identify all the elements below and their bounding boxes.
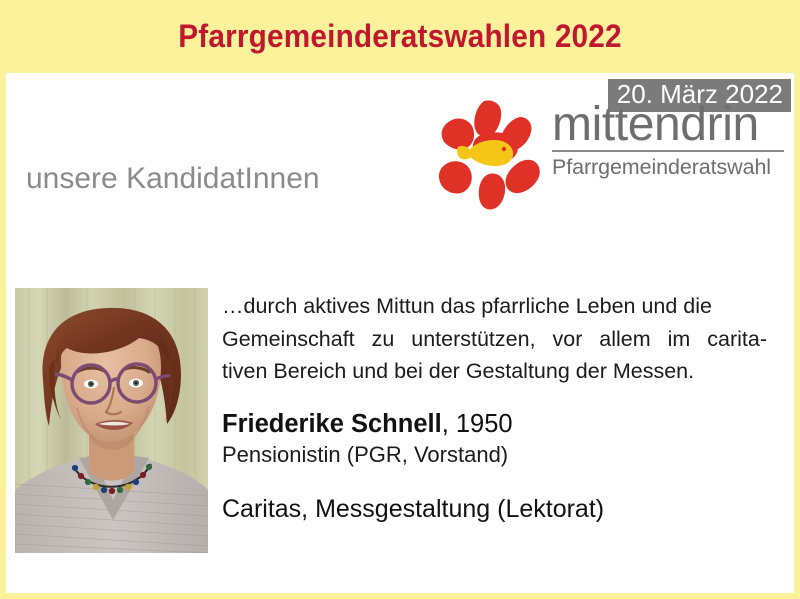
frame-border-right: [794, 73, 800, 599]
section-label-candidates: unsere KandidatInnen: [26, 162, 320, 196]
quote-line-3: tiven Bereich und bei der Gestaltung der…: [222, 355, 767, 388]
name-separator: ,: [442, 410, 456, 438]
candidate-birth-year: 1950: [456, 410, 513, 438]
candidate-occupation: Pensionistin (PGR, Vorstand): [222, 442, 767, 468]
candidate-name: Friederike Schnell: [222, 410, 442, 438]
quote-word: Gemeinschaft: [222, 323, 355, 356]
quote-line-2: Gemeinschaft zu unterstützen, vor allem …: [222, 323, 767, 356]
mittendrin-logo: mittendrin Pfarrgemeinderatswahl: [432, 98, 784, 210]
candidate-text-column: …durch aktives Mittun das pfarrliche Leb…: [222, 290, 767, 524]
flower-fish-icon: [432, 98, 550, 210]
candidate-name-line: Friederike Schnell, 1950: [222, 410, 767, 439]
quote-word: carita-: [707, 323, 767, 356]
quote-word: allem: [599, 323, 650, 356]
logo-subtitle: Pfarrgemeinderatswahl: [552, 155, 784, 180]
quote-line-1: …durch aktives Mittun das pfarrliche Leb…: [222, 290, 767, 323]
frame-border-bottom: [0, 593, 800, 599]
candidate-topics: Caritas, Messgestaltung (Lektorat): [222, 495, 767, 524]
quote-word: zu: [372, 323, 395, 356]
frame-border-left: [0, 73, 6, 599]
candidate-photo: [15, 288, 208, 553]
quote-word: unterstützen,: [411, 323, 535, 356]
logo-text: mittendrin Pfarrgemeinderatswahl: [552, 101, 784, 180]
candidate-slide: Pfarrgemeinderatswahlen 2022 20. März 20…: [0, 0, 800, 599]
logo-wordmark: mittendrin: [552, 101, 784, 148]
page-title: Pfarrgemeinderatswahlen 2022: [28, 0, 772, 73]
quote-word: vor: [552, 323, 582, 356]
quote-word: im: [668, 323, 691, 356]
